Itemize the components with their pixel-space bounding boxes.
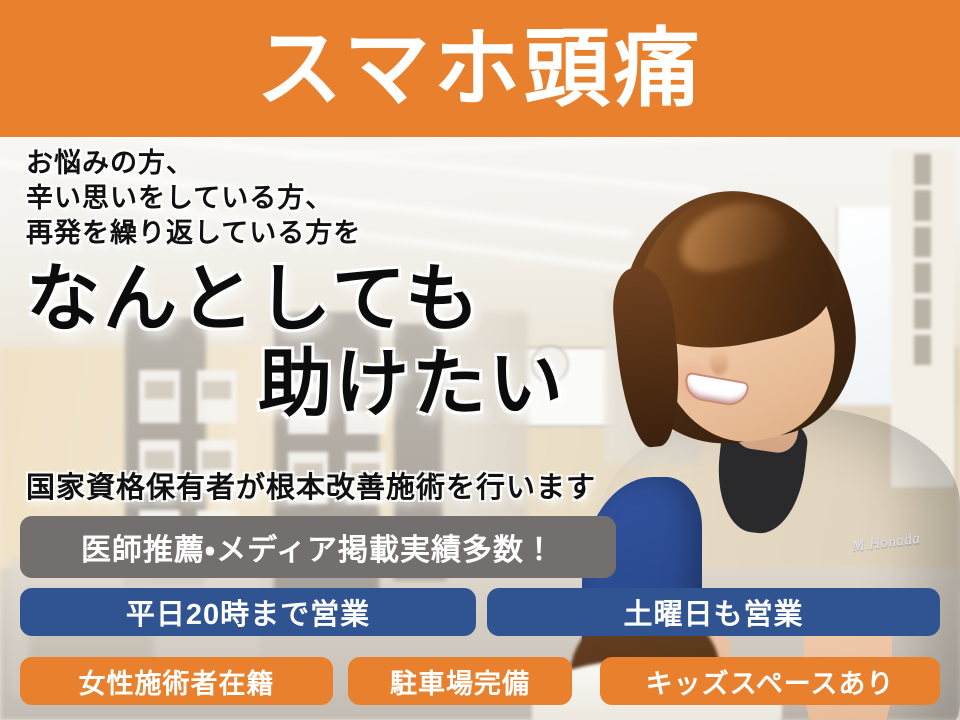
badge-weekday-hours: 平日20時まで営業	[20, 588, 476, 636]
headline-line-2: 助けたい	[258, 342, 726, 426]
poster-banner: M.Honada スマホ頭痛 お悩みの方、 辛い思いをしている方、 再発を繰り返…	[0, 0, 960, 720]
lead-copy-list: お悩みの方、 辛い思いをしている方、 再発を繰り返している方を	[26, 146, 726, 251]
badge-female-staff: 女性施術者在籍	[20, 657, 333, 705]
badge-saturday-hours: 土曜日も営業	[487, 588, 940, 636]
headline-line-1: なんとしても	[26, 257, 726, 341]
badge-parking: 駐車場完備	[348, 657, 572, 705]
badge-media-recommendation: 医師推薦・メディア掲載実績多数！	[20, 516, 616, 578]
badge-kids-space: キッズスペースあり	[600, 657, 940, 705]
lead-copy-line-1: お悩みの方、	[26, 146, 726, 181]
header-bar: スマホ頭痛	[0, 0, 960, 137]
lead-copy-line-3: 再発を繰り返している方を	[26, 216, 726, 251]
page-title: スマホ頭痛	[256, 26, 703, 112]
lead-copy-line-2: 辛い思いをしている方、	[26, 181, 726, 216]
copy-block: お悩みの方、 辛い思いをしている方、 再発を繰り返している方を なんとしても 助…	[26, 146, 726, 426]
headline: なんとしても 助けたい	[26, 257, 726, 426]
subcopy: 国家資格保有者が根本改善施術を行います	[26, 464, 596, 506]
